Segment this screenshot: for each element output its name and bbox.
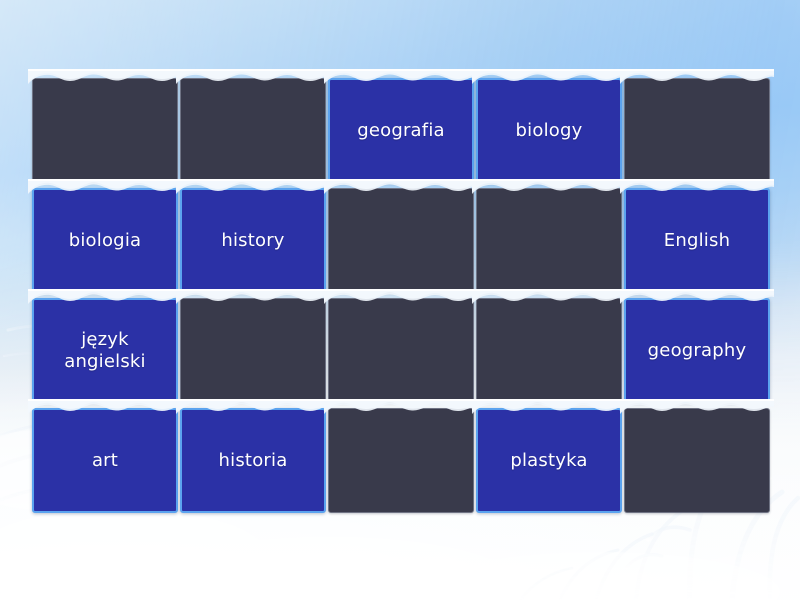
tile-label: biology — [508, 120, 591, 141]
tile-hidden[interactable] — [328, 298, 474, 403]
tile-label: historia — [211, 450, 296, 471]
tile-grid: geografiabiologybiologiahistoryEnglishję… — [32, 78, 770, 513]
tile-face — [328, 188, 474, 293]
tile-revealed[interactable]: plastyka — [476, 408, 622, 513]
tile-label: język angielski — [56, 329, 154, 371]
tile-revealed[interactable]: geography — [624, 298, 770, 403]
tile-label: biologia — [61, 230, 150, 251]
tile-face: geography — [624, 298, 770, 403]
tile-hidden[interactable] — [624, 78, 770, 183]
tile-face — [328, 298, 474, 403]
tile-revealed[interactable]: art — [32, 408, 178, 513]
tile-face: English — [624, 188, 770, 293]
tile-revealed[interactable]: biology — [476, 78, 622, 183]
tile-revealed[interactable]: geografia — [328, 78, 474, 183]
tile-label: plastyka — [502, 450, 595, 471]
tile-hidden[interactable] — [328, 408, 474, 513]
tile-face: biology — [476, 78, 622, 183]
tile-face — [476, 298, 622, 403]
tile-face — [328, 408, 474, 513]
tile-hidden[interactable] — [476, 188, 622, 293]
tile-hidden[interactable] — [180, 78, 326, 183]
game-stage: geografiabiologybiologiahistoryEnglishję… — [0, 0, 800, 600]
tile-face: plastyka — [476, 408, 622, 513]
tile-face — [32, 78, 178, 183]
tile-hidden[interactable] — [476, 298, 622, 403]
tile-hidden[interactable] — [32, 78, 178, 183]
tile-label: geografia — [349, 120, 453, 141]
tile-label: English — [656, 230, 738, 251]
tile-revealed[interactable]: English — [624, 188, 770, 293]
tile-face — [180, 78, 326, 183]
tile-face: biologia — [32, 188, 178, 293]
tile-face — [180, 298, 326, 403]
tile-revealed[interactable]: historia — [180, 408, 326, 513]
tile-face: historia — [180, 408, 326, 513]
tile-face: geografia — [328, 78, 474, 183]
tile-hidden[interactable] — [180, 298, 326, 403]
tile-revealed[interactable]: history — [180, 188, 326, 293]
tile-face — [624, 78, 770, 183]
tile-face: history — [180, 188, 326, 293]
tile-face: art — [32, 408, 178, 513]
tile-label: geography — [640, 340, 755, 361]
tile-label: art — [84, 450, 126, 471]
tile-face: język angielski — [32, 298, 178, 403]
tile-hidden[interactable] — [624, 408, 770, 513]
tile-revealed[interactable]: język angielski — [32, 298, 178, 403]
tile-face — [476, 188, 622, 293]
tile-label: history — [213, 230, 292, 251]
tile-revealed[interactable]: biologia — [32, 188, 178, 293]
tile-face — [624, 408, 770, 513]
tile-hidden[interactable] — [328, 188, 474, 293]
